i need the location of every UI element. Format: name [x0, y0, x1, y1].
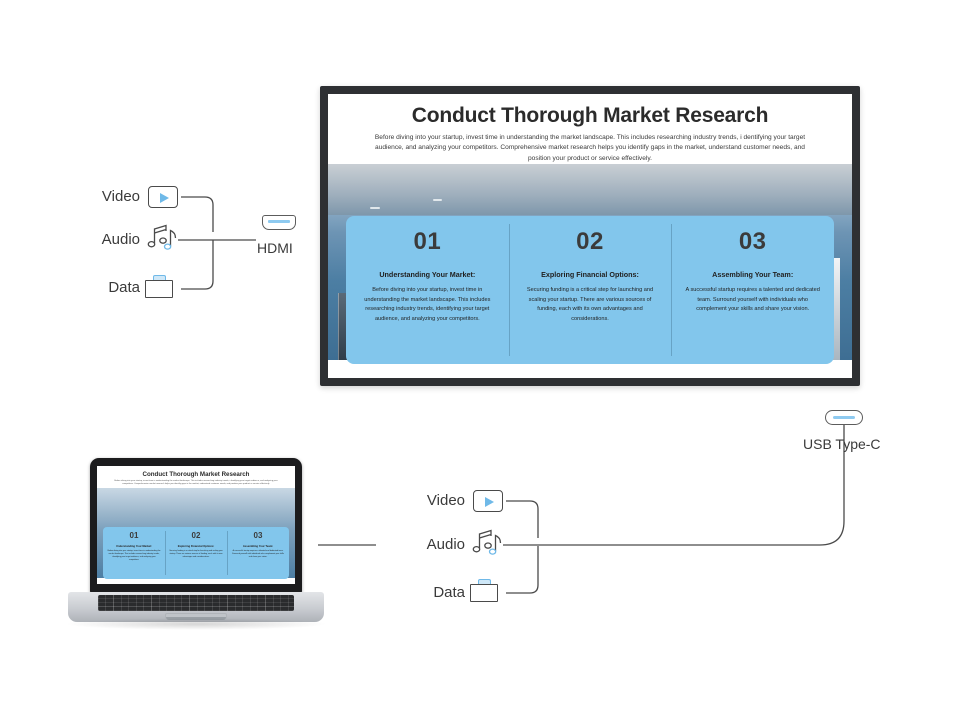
column-number: 01: [413, 230, 441, 254]
panel-column: 03 Assembling Your Team: A successful st…: [671, 216, 834, 364]
music-note-icon: [146, 222, 180, 257]
column-heading: Understanding Your Market:: [379, 270, 475, 279]
hdmi-connector-icon: [262, 215, 296, 230]
mini-column-number: 01: [107, 532, 161, 540]
mini-slide-title: Conduct Thorough Market Research: [103, 471, 289, 478]
laptop-keyboard: [98, 595, 294, 611]
tv-screen: Conduct Thorough Market Research Before …: [328, 94, 852, 378]
panel-column: 01 Understanding Your Market: Before div…: [346, 216, 509, 364]
column-body: A successful startup requires a talented…: [683, 286, 822, 315]
mini-column-body: Before diving into your startup, invest …: [107, 550, 161, 563]
diagram-canvas: Conduct Thorough Market Research Before …: [0, 0, 960, 720]
laptop-screen: Conduct Thorough Market Research Before …: [97, 466, 295, 584]
hdmi-connector-label: HDMI: [257, 240, 293, 256]
slide-header: Conduct Thorough Market Research Before …: [328, 94, 852, 172]
television-display: Conduct Thorough Market Research Before …: [320, 86, 860, 386]
mini-column-heading: Exploring Financial Options:: [169, 545, 223, 548]
signal-label-audio-hdmi: Audio: [40, 231, 140, 248]
mini-column-number: 03: [231, 532, 285, 540]
column-number: 02: [576, 230, 604, 254]
usb-type-c-connector-icon: [825, 410, 863, 425]
signal-label-data-hdmi: Data: [40, 279, 140, 296]
mini-panel-column: 01 Understanding Your Market: Before div…: [103, 527, 165, 579]
signal-label-video-hdmi: Video: [40, 188, 140, 205]
mini-panel-column: 03 Assembling Your Team: A successful st…: [227, 527, 289, 579]
signal-label-data-usbc: Data: [365, 584, 465, 601]
mini-column-body: Securing funding is a critical step for …: [169, 550, 223, 559]
laptop-lid: Conduct Thorough Market Research Before …: [90, 458, 302, 594]
usb-type-c-connector-label: USB Type-C: [803, 436, 881, 452]
mini-panel-column: 02 Exploring Financial Options: Securing…: [165, 527, 227, 579]
mini-column-body: A successful startup requires a talented…: [231, 550, 285, 559]
folder-icon: [470, 579, 498, 602]
video-play-icon: [473, 490, 503, 512]
folder-icon: [145, 275, 173, 298]
signal-label-audio-usbc: Audio: [365, 536, 465, 553]
laptop-computer: Conduct Thorough Market Research Before …: [68, 458, 324, 640]
mini-slide-subtitle: Before diving into your startup, invest …: [103, 480, 289, 486]
laptop-shadow: [64, 618, 328, 630]
mini-slide-header: Conduct Thorough Market Research Before …: [97, 466, 295, 489]
video-play-icon: [148, 186, 178, 208]
column-body: Before diving into your startup, invest …: [358, 286, 497, 324]
signal-label-video-usbc: Video: [365, 492, 465, 509]
column-heading: Assembling Your Team:: [712, 270, 793, 279]
column-heading: Exploring Financial Options:: [541, 270, 639, 279]
column-number: 03: [739, 230, 767, 254]
three-column-panel: 01 Understanding Your Market: Before div…: [346, 216, 834, 364]
slide-subtitle: Before diving into your startup, invest …: [354, 133, 826, 164]
panel-column: 02 Exploring Financial Options: Securing…: [509, 216, 672, 364]
column-body: Securing funding is a critical step for …: [521, 286, 660, 324]
music-note-icon: [471, 527, 505, 562]
slide-title: Conduct Thorough Market Research: [354, 104, 826, 127]
mini-column-heading: Understanding Your Market:: [107, 545, 161, 548]
mini-column-number: 02: [169, 532, 223, 540]
mini-three-column-panel: 01 Understanding Your Market: Before div…: [103, 527, 289, 579]
mini-column-heading: Assembling Your Team:: [231, 545, 285, 548]
